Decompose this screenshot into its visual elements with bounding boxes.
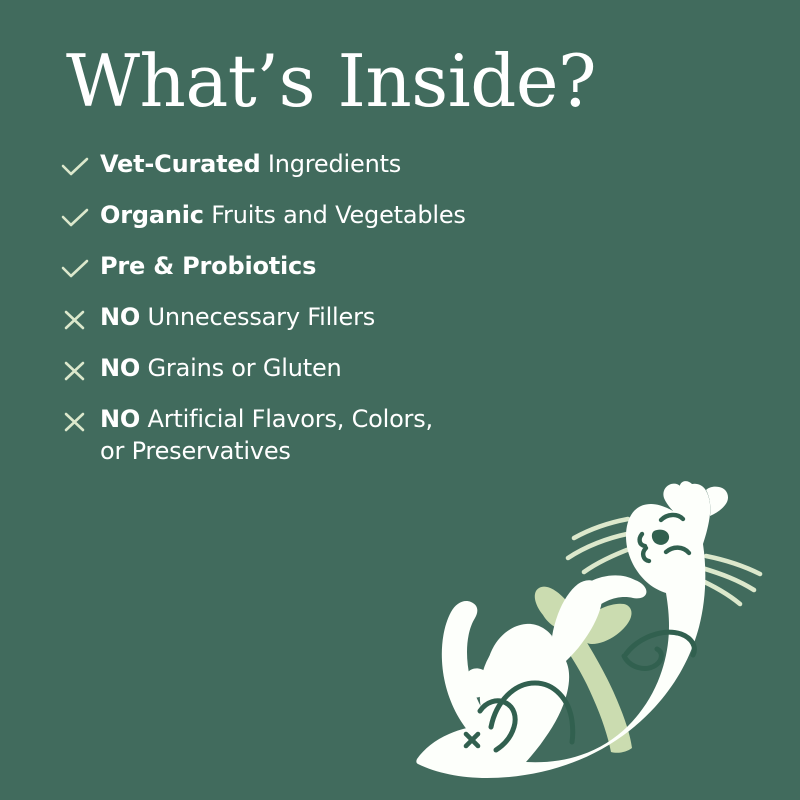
feature-row: Organic Fruits and Vegetables [60, 199, 700, 250]
feature-lead: NO [100, 303, 140, 331]
feature-text: Vet-Curated Ingredients [100, 148, 401, 180]
feature-text: Pre & Probiotics [100, 250, 316, 282]
reclining-cat-illustration [336, 476, 800, 800]
check-icon [60, 250, 100, 286]
feature-text: NO Artificial Flavors, Colors,or Preserv… [100, 403, 433, 467]
whats-inside-card: What’s Inside? Vet-Curated Ingredients O… [0, 0, 800, 800]
feature-rest: Ingredients [260, 150, 401, 178]
feature-lead: NO [100, 354, 140, 382]
feature-lead: NO [100, 405, 140, 433]
feature-list: Vet-Curated Ingredients Organic Fruits a… [60, 148, 700, 505]
feature-row: Pre & Probiotics [60, 250, 700, 301]
cross-icon [60, 403, 100, 439]
cross-icon [60, 352, 100, 388]
feature-rest: Grains or Gluten [140, 354, 341, 382]
feature-rest: Fruits and Vegetables [204, 201, 466, 229]
feature-lead: Vet-Curated [100, 150, 260, 178]
feature-row: Vet-Curated Ingredients [60, 148, 700, 199]
feature-second-line: or Preservatives [100, 435, 433, 467]
feature-text: NO Unnecessary Fillers [100, 301, 375, 333]
cross-icon [60, 301, 100, 337]
feature-rest: Unnecessary Fillers [140, 303, 375, 331]
page-title: What’s Inside? [66, 45, 596, 117]
feature-rest: Artificial Flavors, Colors, [140, 405, 433, 433]
feature-row: NO Unnecessary Fillers [60, 301, 700, 352]
feature-lead: Pre & Probiotics [100, 252, 316, 280]
feature-row: NO Grains or Gluten [60, 352, 700, 403]
check-icon [60, 148, 100, 184]
feature-text: NO Grains or Gluten [100, 352, 342, 384]
feature-text: Organic Fruits and Vegetables [100, 199, 466, 231]
feature-lead: Organic [100, 201, 204, 229]
check-icon [60, 199, 100, 235]
